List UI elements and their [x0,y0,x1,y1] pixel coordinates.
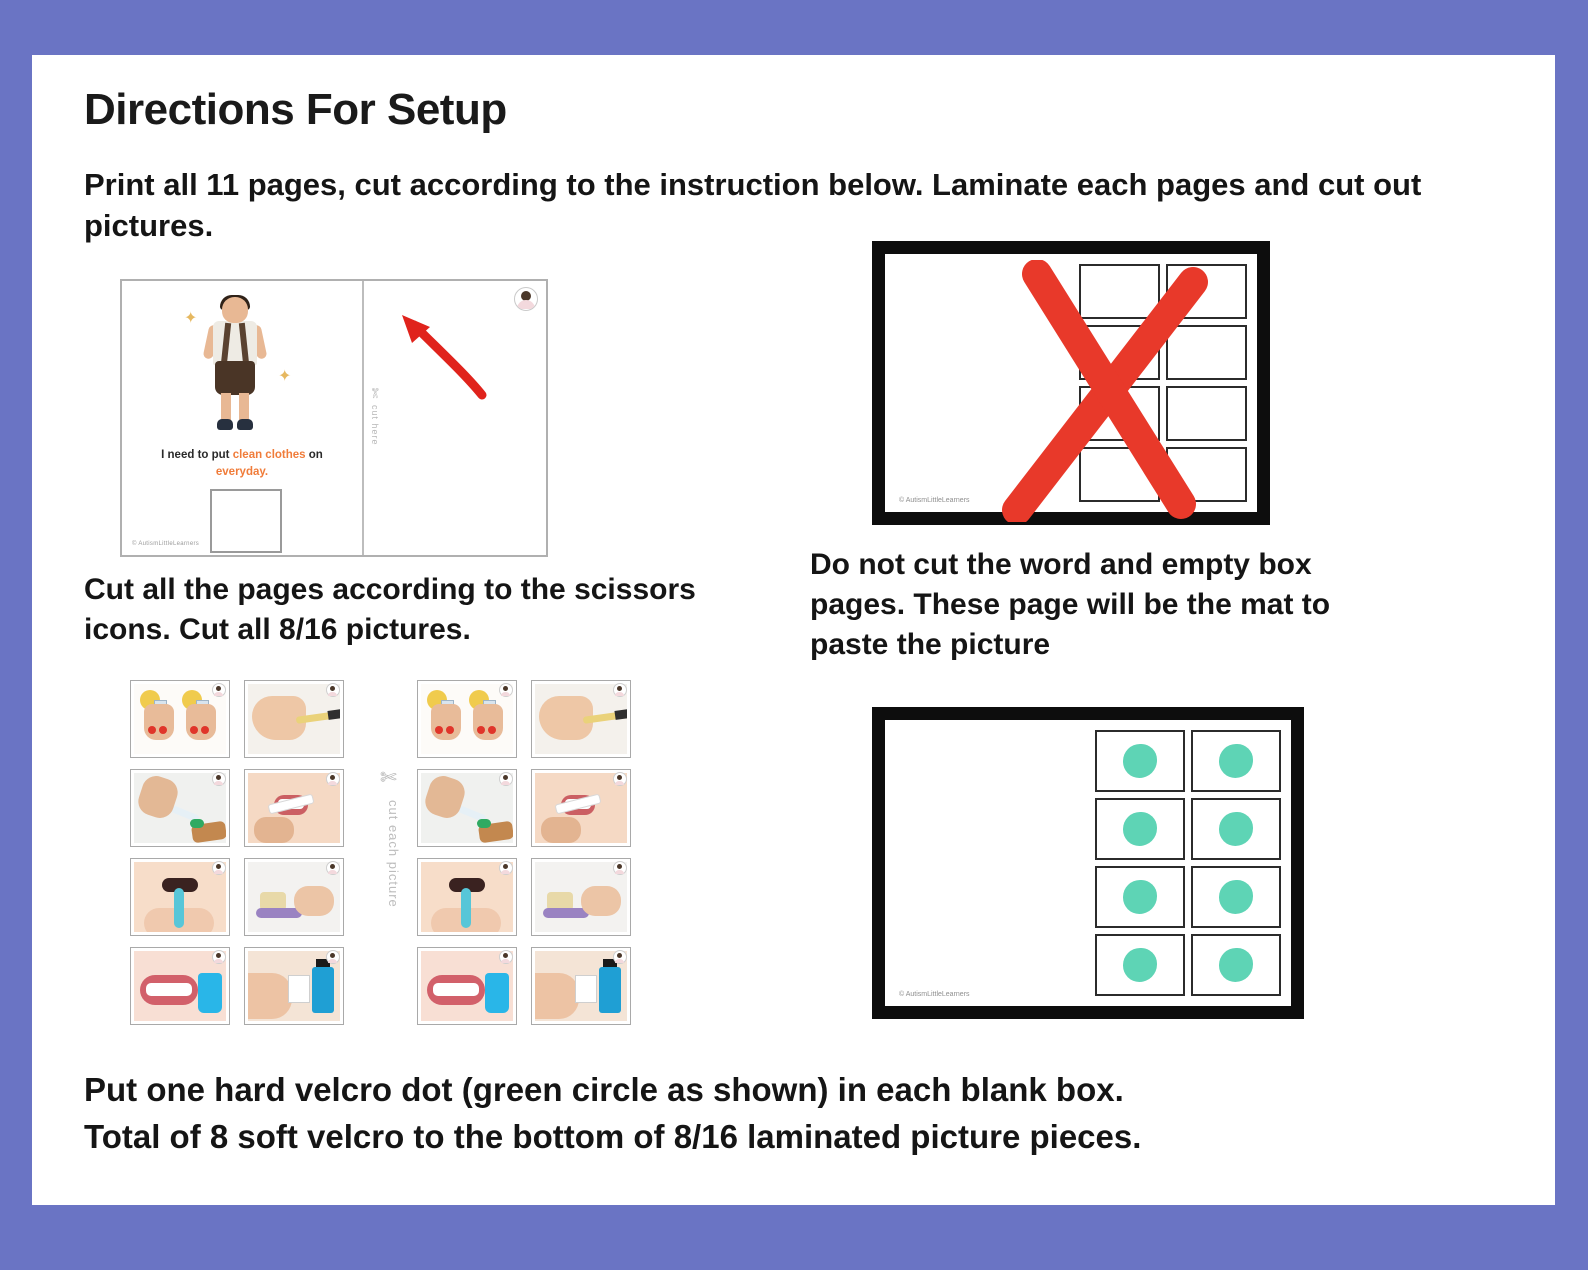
sparkle-icon: ✦ [184,311,197,327]
page-title: Directions For Setup [84,85,507,135]
velcro-dot-icon [1219,948,1253,982]
sparkle-icon: ✦ [278,369,291,385]
picture-card [130,947,230,1025]
brand-avatar-icon [514,287,538,311]
picture-grid-left [130,680,344,1025]
mat-brand-mark: © AutismLittleLearners [899,497,970,504]
mat-velcro-box [1095,730,1185,792]
boy-shirt [213,321,257,365]
caption-highlight-2: everyday. [216,466,268,478]
caption-text-part-1: I need to put [161,449,233,461]
caption-text-part-2: on [309,449,323,461]
picture-card [417,858,517,936]
mat-brand-mark: © AutismLittleLearners [899,991,970,998]
scissors-icon: ✄ [366,388,382,399]
mat-box-grid [1095,730,1281,996]
brand-avatar-icon [613,772,627,786]
mat-empty-box [1166,325,1247,380]
brand-avatar-icon [326,683,340,697]
brand-avatar-icon [499,772,513,786]
picture-card [531,769,631,847]
caption-cut-pages: Cut all the pages according to the sciss… [84,570,724,650]
sample-brand-mark: © AutismLittleLearners [132,541,199,547]
picture-grid-right [417,680,631,1025]
picture-card [417,680,517,758]
brand-avatar-icon [613,950,627,964]
mat-empty-box [1079,447,1160,502]
brand-avatar-icon [212,772,226,786]
velcro-dot-icon [1219,880,1253,914]
sample-page-illustration: ✦ ✦ I need to put clean clothes on every… [120,279,548,557]
picture-card [244,769,344,847]
picture-card [531,680,631,758]
sample-empty-box [210,489,282,553]
brand-avatar-icon [212,950,226,964]
mat-velcro-box [1095,934,1185,996]
brand-avatar-icon [613,683,627,697]
picture-card [417,947,517,1025]
velcro-dot-icon [1219,744,1253,778]
intro-paragraph: Print all 11 pages, cut according to the… [84,165,1504,247]
boy-leg-left [221,393,231,421]
boy-shoe-left [217,419,233,430]
mat-velcro-box [1191,866,1281,928]
caption-highlight-1: clean clothes [233,449,306,461]
mat-velcro-box [1191,798,1281,860]
velcro-dot-icon [1123,812,1157,846]
footer-line-1: Put one hard velcro dot (green circle as… [84,1067,1504,1114]
mat-empty-box [1079,264,1160,319]
brand-avatar-icon [212,861,226,875]
worksheet-page: Directions For Setup Print all 11 pages,… [32,55,1555,1205]
velcro-dot-icon [1123,948,1157,982]
brand-avatar-icon [326,861,340,875]
sample-card-caption: I need to put clean clothes on everyday. [136,447,348,480]
picture-card [244,680,344,758]
velcro-dot-icon [1219,812,1253,846]
picture-card [244,947,344,1025]
caption-do-not-cut: Do not cut the word and empty box pages.… [810,545,1410,665]
brand-avatar-icon [499,683,513,697]
cut-each-picture-label: cut each picture [382,800,403,908]
footer-line-2: Total of 8 soft velcro to the bottom of … [84,1114,1504,1161]
picture-card [244,858,344,936]
mat-velcro-box [1095,798,1185,860]
brand-avatar-icon [326,772,340,786]
brand-avatar-icon [613,861,627,875]
picture-card [130,680,230,758]
boy-head [222,297,248,323]
red-arrow-icon [394,309,490,401]
mat-empty-box [1166,447,1247,502]
brand-avatar-icon [326,950,340,964]
boy-leg-right [239,393,249,421]
brand-avatar-icon [499,861,513,875]
brand-avatar-icon [212,683,226,697]
mat-empty-box [1079,386,1160,441]
mat-empty-box [1079,325,1160,380]
boy-shoe-right [237,419,253,430]
boy-photo [204,295,266,435]
cut-line-divider [362,281,364,555]
velcro-dot-mat: © AutismLittleLearners [872,707,1304,1019]
picture-card [130,858,230,936]
picture-card [417,769,517,847]
mat-empty-box [1166,264,1247,319]
do-not-cut-mat: © AutismLittleLearners [872,241,1270,525]
cut-here-label: cut here [370,405,380,446]
mat-box-grid [1079,264,1247,502]
mat-velcro-box [1191,934,1281,996]
boy-shorts [215,361,255,395]
footer-instructions: Put one hard velcro dot (green circle as… [84,1067,1504,1161]
mat-velcro-box [1191,730,1281,792]
picture-card [130,769,230,847]
picture-card [531,858,631,936]
picture-card [531,947,631,1025]
mat-empty-box [1166,386,1247,441]
velcro-dot-icon [1123,744,1157,778]
scissors-icon: ✄ [380,765,397,790]
velcro-dot-icon [1123,880,1157,914]
brand-avatar-icon [499,950,513,964]
mat-velcro-box [1095,866,1185,928]
